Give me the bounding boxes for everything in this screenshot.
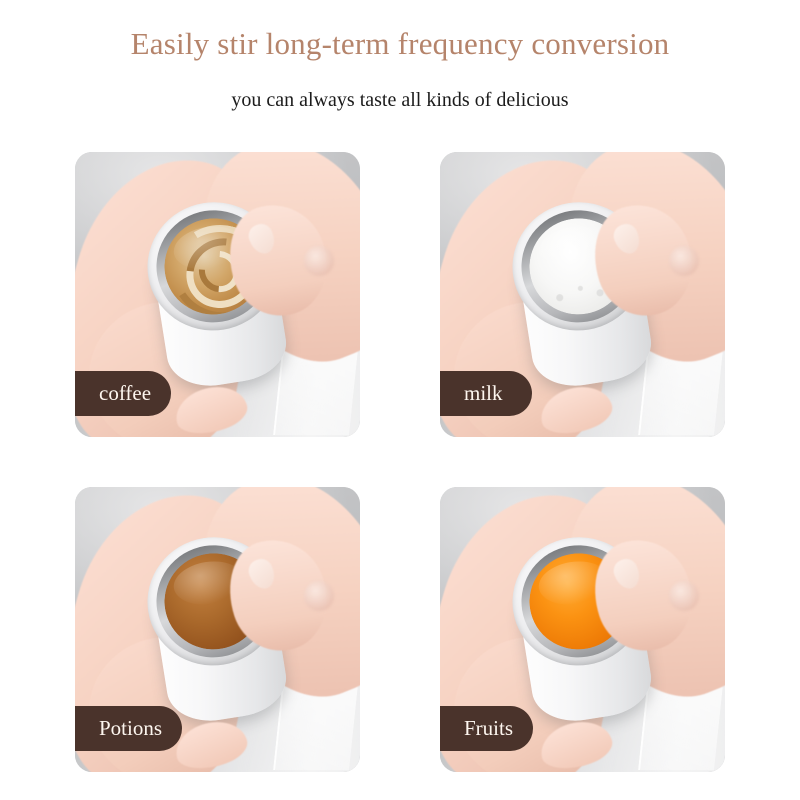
knuckle-shadow xyxy=(304,246,334,276)
category-label: milk xyxy=(464,383,503,404)
feature-panel-coffee[interactable]: coffee xyxy=(75,152,360,437)
category-badge-fruits[interactable]: Fruits xyxy=(440,706,533,751)
category-badge-coffee[interactable]: coffee xyxy=(75,371,171,416)
category-badge-potions[interactable]: Potions xyxy=(75,706,182,751)
category-label: Potions xyxy=(99,718,162,739)
page-title: Easily stir long-term frequency conversi… xyxy=(0,26,800,63)
category-label: Fruits xyxy=(464,718,513,739)
knuckle-shadow xyxy=(304,581,334,611)
feature-panel-fruits[interactable]: Fruits xyxy=(440,487,725,772)
feature-panel-potions[interactable]: Potions xyxy=(75,487,360,772)
page-subtitle: you can always taste all kinds of delici… xyxy=(0,88,800,112)
page-header: Easily stir long-term frequency conversi… xyxy=(0,0,800,112)
category-badge-milk[interactable]: milk xyxy=(440,371,532,416)
category-label: coffee xyxy=(99,383,151,404)
knuckle-shadow xyxy=(669,581,699,611)
feature-panel-milk[interactable]: milk xyxy=(440,152,725,437)
feature-panel-grid: coffee milk xyxy=(75,152,725,772)
knuckle-shadow xyxy=(669,246,699,276)
